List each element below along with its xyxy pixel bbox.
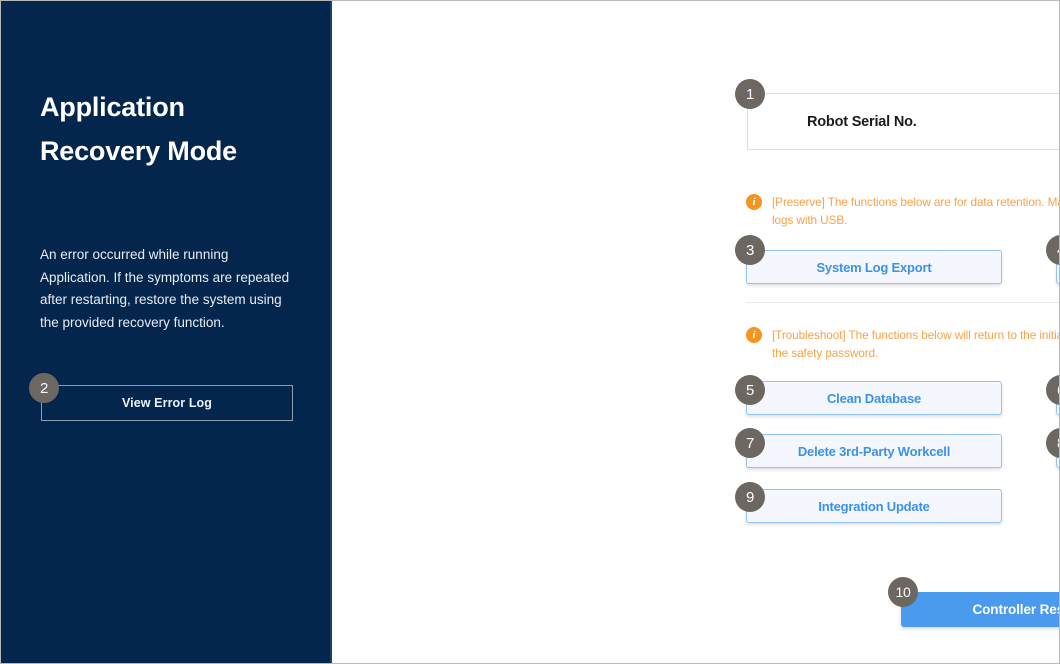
section-divider — [746, 302, 1060, 303]
clean-database-label: Clean Database — [827, 391, 921, 406]
sidebar: Application Recovery Mode An error occur… — [1, 1, 332, 664]
controller-restart-button[interactable]: Controller Restart — [901, 592, 1060, 627]
clean-database-button[interactable]: Clean Database — [746, 381, 1002, 415]
troubleshoot-notice: i [Troubleshoot] The functions below wil… — [746, 326, 1060, 362]
badge-8: 8 — [1046, 428, 1060, 458]
badge-9: 9 — [735, 482, 765, 512]
preserve-notice-text: [Preserve] The functions below are for d… — [772, 193, 1060, 229]
badge-5: 5 — [735, 375, 765, 405]
robot-serial-card: Robot Serial No. XXXXXX-MXXXX — [747, 93, 1060, 150]
view-error-log-button[interactable]: View Error Log — [41, 385, 293, 421]
preserve-notice: i [Preserve] The functions below are for… — [746, 193, 1060, 229]
info-icon: i — [746, 327, 762, 343]
system-log-export-label: System Log Export — [816, 260, 931, 275]
controller-restart-label: Controller Restart — [973, 602, 1060, 617]
badge-7: 7 — [735, 428, 765, 458]
page-title: Application Recovery Mode — [40, 85, 290, 173]
badge-10: 10 — [888, 577, 918, 607]
integration-update-label: Integration Update — [818, 499, 929, 514]
info-icon: i — [746, 194, 762, 210]
system-log-export-button[interactable]: System Log Export — [746, 250, 1002, 284]
robot-serial-label: Robot Serial No. — [807, 114, 917, 130]
recovery-mode-screen: Application Recovery Mode An error occur… — [0, 0, 1060, 664]
main-panel: 1 Robot Serial No. XXXXXX-MXXXX i [Prese… — [332, 1, 1059, 664]
troubleshoot-notice-text: [Troubleshoot] The functions below will … — [772, 326, 1060, 362]
badge-4: 4 — [1046, 235, 1060, 265]
integration-update-button[interactable]: Integration Update — [746, 489, 1002, 523]
view-error-log-label: View Error Log — [122, 396, 212, 410]
delete-third-party-workcell-label: Delete 3rd-Party Workcell — [798, 444, 950, 459]
badge-3: 3 — [735, 235, 765, 265]
sidebar-description: An error occurred while running Applicat… — [40, 244, 292, 334]
delete-third-party-workcell-button[interactable]: Delete 3rd-Party Workcell — [746, 434, 1002, 468]
badge-6: 6 — [1046, 375, 1060, 405]
badge-2: 2 — [29, 373, 59, 403]
badge-1: 1 — [735, 79, 765, 109]
